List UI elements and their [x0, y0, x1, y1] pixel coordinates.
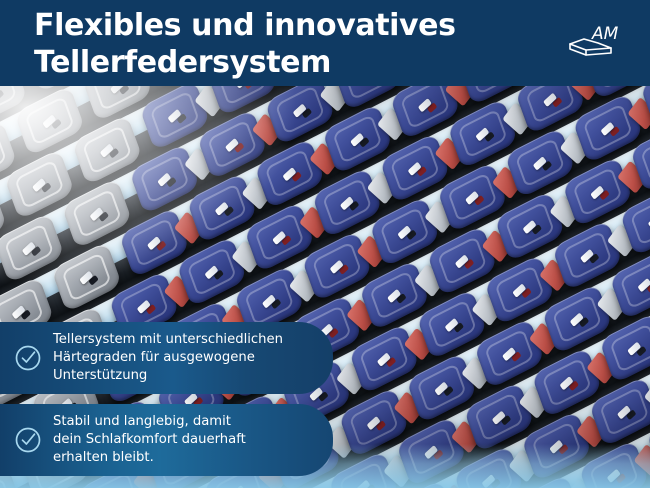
check-circle-icon	[13, 425, 43, 455]
promo-banner: Flexibles und innovatives Tellerfedersys…	[0, 0, 650, 488]
feature-callout-list: Tellersystem mit unterschiedlichen Härte…	[0, 322, 340, 476]
am-mattress-logo[interactable]: AM	[564, 22, 626, 64]
page-title: Flexibles und innovatives Tellerfedersys…	[34, 8, 504, 81]
feature-callout-1-text: Tellersystem mit unterschiedlichen Härte…	[53, 331, 283, 385]
check-circle-icon	[13, 343, 43, 373]
header-bar: Flexibles und innovatives Tellerfedersys…	[0, 0, 650, 86]
feature-callout-2-text: Stabil und langlebig, damit dein Schlafk…	[53, 413, 246, 467]
logo-wordmark: AM	[591, 24, 619, 44]
feature-callout-1[interactable]: Tellersystem mit unterschiedlichen Härte…	[0, 322, 333, 394]
feature-callout-2[interactable]: Stabil und langlebig, damit dein Schlafk…	[0, 404, 333, 476]
